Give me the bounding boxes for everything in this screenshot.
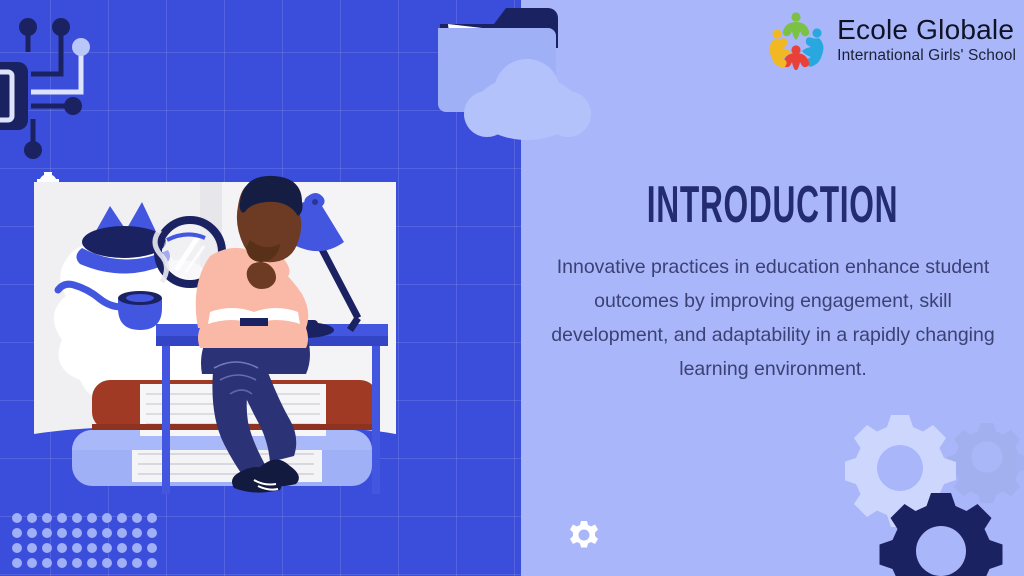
gear-icon (568, 519, 600, 551)
dot (57, 513, 67, 523)
dot (42, 558, 52, 568)
student-reading-illustration (14, 172, 434, 502)
logo-subtitle: International Girls' School (837, 48, 1016, 64)
dot (87, 558, 97, 568)
dot (147, 543, 157, 553)
dot (72, 558, 82, 568)
dot (42, 543, 52, 553)
circuit-chip-icon (0, 14, 153, 164)
dot (12, 543, 22, 553)
dot (57, 543, 67, 553)
dot (72, 513, 82, 523)
dot (117, 528, 127, 538)
dot (12, 513, 22, 523)
dot (57, 528, 67, 538)
dot (132, 558, 142, 568)
ecole-globale-logo-icon (765, 8, 827, 70)
dot (102, 528, 112, 538)
slide-root: INTRODUCTION Innovative practices in edu… (0, 0, 1024, 576)
dot-grid-pattern (12, 513, 162, 575)
logo-text: Ecole Globale International Girls' Schoo… (837, 14, 1016, 64)
dot (147, 513, 157, 523)
logo-figure-green (783, 12, 809, 40)
dot (87, 543, 97, 553)
dot (132, 513, 142, 523)
dot (147, 528, 157, 538)
dot (57, 558, 67, 568)
dot (117, 513, 127, 523)
logo-title: Ecole Globale (837, 16, 1016, 44)
dot (27, 543, 37, 553)
dot (72, 543, 82, 553)
dot (87, 513, 97, 523)
dot (42, 513, 52, 523)
dot (27, 513, 37, 523)
dot (147, 558, 157, 568)
dot (132, 543, 142, 553)
dot (27, 558, 37, 568)
gears-cluster (845, 415, 1024, 576)
dot (117, 558, 127, 568)
dot (132, 528, 142, 538)
dot (12, 558, 22, 568)
dot (12, 528, 22, 538)
dot (87, 528, 97, 538)
dot (102, 513, 112, 523)
gear-icon-muted (947, 423, 1024, 503)
page-title: INTRODUCTION (591, 176, 953, 235)
body-paragraph: Innovative practices in education enhanc… (539, 250, 1007, 386)
dot (42, 528, 52, 538)
dot (72, 528, 82, 538)
logo: Ecole Globale International Girls' Schoo… (765, 8, 1016, 70)
dot (117, 543, 127, 553)
dot (27, 528, 37, 538)
dot (102, 558, 112, 568)
dot (102, 543, 112, 553)
